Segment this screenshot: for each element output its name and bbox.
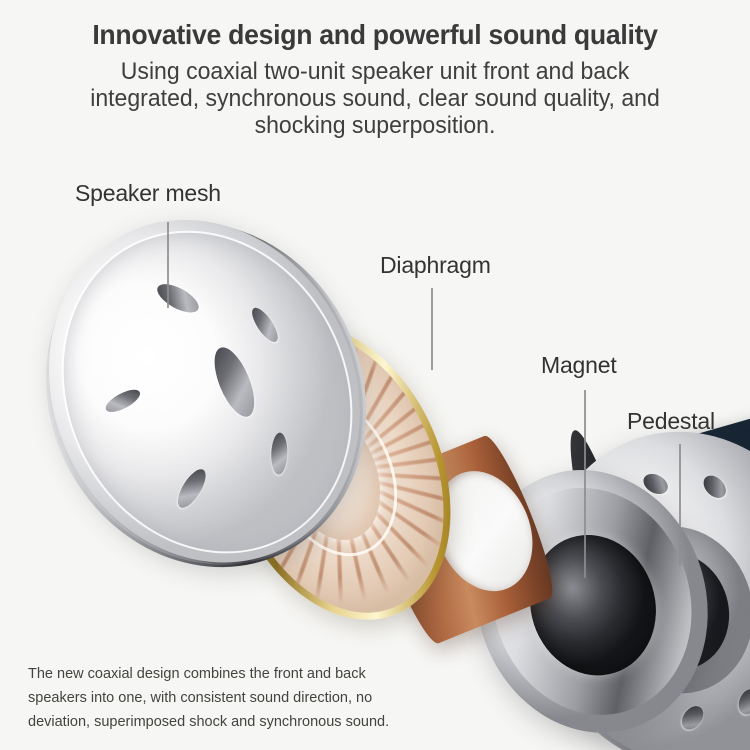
subtitle-line-2: integrated, synchronous sound, clear sou… — [39, 85, 711, 112]
leader-line-diaphragm — [431, 288, 433, 370]
caption-line-2: speakers into one, with consistent sound… — [28, 686, 478, 710]
header: Innovative design and powerful sound qua… — [0, 0, 750, 139]
callout-label-magnet: Magnet — [541, 352, 617, 379]
pedestal-vent-hole — [699, 471, 730, 502]
caption-line-3: deviation, superimposed shock and synchr… — [28, 710, 478, 734]
leader-line-magnet — [584, 390, 586, 578]
page-subtitle: Using coaxial two-unit speaker unit fron… — [39, 58, 711, 139]
callout-label-speaker-mesh: Speaker mesh — [75, 180, 221, 207]
caption-line-1: The new coaxial design combines the fron… — [28, 662, 478, 686]
bottom-caption: The new coaxial design combines the fron… — [28, 662, 478, 734]
infographic-root: Innovative design and powerful sound qua… — [0, 0, 750, 750]
leader-line-pedestal — [679, 444, 681, 566]
page-title: Innovative design and powerful sound qua… — [19, 18, 732, 52]
leader-line-speaker-mesh — [167, 222, 169, 308]
subtitle-line-1: Using coaxial two-unit speaker unit fron… — [39, 58, 711, 85]
callout-label-diaphragm: Diaphragm — [380, 252, 491, 279]
subtitle-line-3: shocking superposition. — [39, 112, 711, 139]
callout-label-pedestal: Pedestal — [627, 408, 715, 435]
